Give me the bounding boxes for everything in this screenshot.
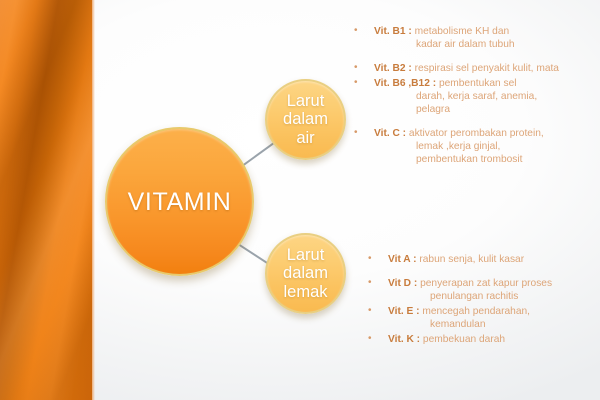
left-decorative-band (0, 0, 92, 400)
bullet-icon: • (368, 277, 372, 290)
node-larut-dalam-lemak[interactable]: Larut dalam lemak (265, 233, 346, 314)
item-lead: Vit. K : (388, 334, 420, 345)
list-gap (352, 118, 598, 127)
item-cont: penulangan rachitis (388, 290, 598, 303)
item-cont: kadar air dalam tubuh (374, 38, 598, 51)
item-lead: Vit. B2 : (374, 63, 412, 74)
list-item: • Vit. B1 : metabolisme KH dan kadar air… (352, 25, 598, 51)
list-item: • Vit D : penyerapan zat kapur proses pe… (366, 277, 598, 303)
node-vitamin[interactable]: VITAMIN (105, 127, 254, 276)
item-lead: Vit. C : (374, 128, 406, 139)
item-body: mencegah pendarahan, (422, 306, 530, 317)
item-body: metabolisme KH dan (415, 26, 510, 37)
item-body: pembentukan sel (439, 78, 517, 89)
list-item: • Vit. K : pembekuan darah (366, 333, 598, 346)
bullet-icon: • (368, 253, 372, 266)
list-item: • Vit. B6 ,B12 : pembentukan sel darah, … (352, 77, 598, 116)
water-soluble-vitamin-list: • Vit. B1 : metabolisme KH dan kadar air… (352, 25, 598, 168)
item-lead: Vit. B1 : (374, 26, 412, 37)
item-lead: Vit. B6 ,B12 : (374, 78, 436, 89)
band-right-edge (92, 0, 95, 400)
item-body: rabun senja, kulit kasar (419, 254, 524, 265)
node-larut-dalam-lemak-label: Larut dalam lemak (267, 246, 344, 301)
node-lemak-line1: Larut (287, 246, 325, 264)
item-body: penyerapan zat kapur proses (420, 278, 552, 289)
bullet-icon: • (354, 62, 358, 75)
node-air-line1: Larut (287, 92, 325, 110)
item-lead: Vit D : (388, 278, 417, 289)
item-body: pembekuan darah (423, 334, 505, 345)
node-larut-dalam-air-label: Larut dalam air (267, 92, 344, 147)
bullet-icon: • (368, 333, 372, 346)
list-item: • Vit. E : mencegah pendarahan, kemandul… (366, 305, 598, 331)
item-lead: Vit A : (388, 254, 417, 265)
bullet-icon: • (354, 127, 358, 140)
bullet-icon: • (354, 77, 358, 90)
item-cont: kemandulan (388, 318, 598, 331)
node-vitamin-label: VITAMIN (107, 188, 252, 216)
node-air-line2: dalam (283, 110, 328, 128)
item-body: aktivator perombakan protein, (409, 128, 544, 139)
list-item: • Vit A : rabun senja, kulit kasar (366, 253, 598, 266)
list-item: • Vit. B2 : respirasi sel penyakit kulit… (352, 62, 598, 75)
list-gap (366, 268, 598, 277)
item-cont: pelagra (374, 103, 598, 116)
bullet-icon: • (368, 305, 372, 318)
list-item: • Vit. C : aktivator perombakan protein,… (352, 127, 598, 166)
item-cont: pembentukan trombosit (374, 153, 598, 166)
slide-canvas: VITAMIN Larut dalam air Larut dalam lema… (0, 0, 600, 400)
item-body: respirasi sel penyakit kulit, mata (415, 63, 559, 74)
node-lemak-line2: dalam (283, 264, 328, 282)
list-gap (352, 53, 598, 62)
bullet-icon: • (354, 25, 358, 38)
item-cont: darah, kerja saraf, anemia, (374, 90, 598, 103)
node-lemak-line3: lemak (283, 283, 327, 301)
fat-soluble-vitamin-list: • Vit A : rabun senja, kulit kasar • Vit… (366, 253, 598, 348)
node-larut-dalam-air[interactable]: Larut dalam air (265, 79, 346, 160)
node-air-line3: air (296, 129, 314, 147)
item-lead: Vit. E : (388, 306, 420, 317)
item-cont: lemak ,kerja ginjal, (374, 140, 598, 153)
